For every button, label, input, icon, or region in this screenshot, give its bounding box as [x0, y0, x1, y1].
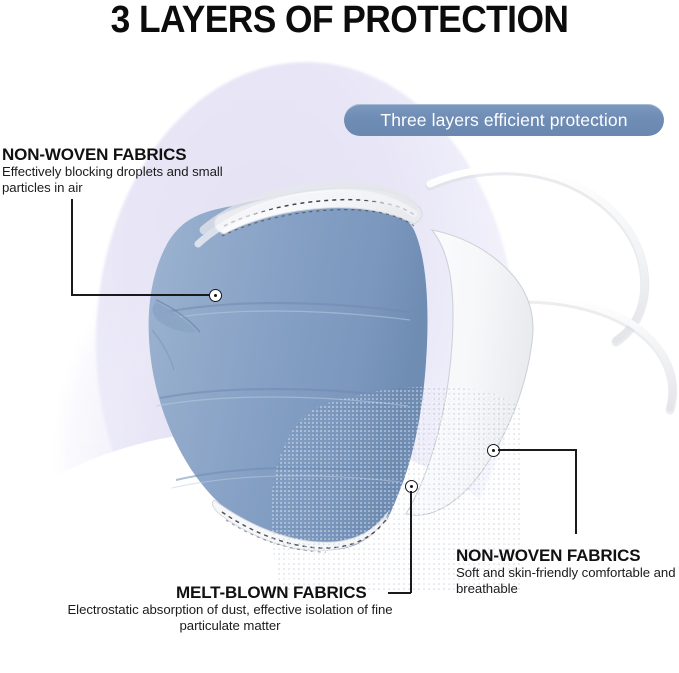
- leader-line-inner-horizontal: [498, 449, 576, 451]
- leader-line-outer-vertical: [71, 199, 73, 296]
- callout-meltblown-layer: MELT-BLOWN FABRICS Electrostatic absorpt…: [60, 583, 400, 633]
- leader-line-outer-horizontal: [71, 294, 216, 296]
- mask-layer-outer-nonwoven: [149, 196, 428, 551]
- callout-outer-heading: NON-WOVEN FABRICS: [2, 145, 242, 164]
- leader-line-inner-vertical: [575, 449, 577, 534]
- page-title: 3 LAYERS OF PROTECTION: [24, 0, 655, 41]
- callout-outer-description: Effectively blocking droplets and small …: [2, 164, 242, 195]
- callout-meltblown-heading: MELT-BLOWN FABRICS: [60, 583, 400, 602]
- callout-inner-heading: NON-WOVEN FABRICS: [456, 546, 679, 565]
- callout-outer-layer: NON-WOVEN FABRICS Effectively blocking d…: [2, 145, 242, 195]
- marker-dot-inner-layer: [487, 444, 500, 457]
- callout-meltblown-description: Electrostatic absorption of dust, effect…: [60, 602, 400, 633]
- infographic-canvas: 3 LAYERS OF PROTECTION Three layers effi…: [0, 0, 679, 673]
- badge-three-layers: Three layers efficient protection: [344, 104, 664, 136]
- badge-label: Three layers efficient protection: [380, 111, 627, 129]
- callout-inner-layer: NON-WOVEN FABRICS Soft and skin-friendly…: [456, 546, 679, 596]
- leader-line-meltblown-vertical: [410, 491, 412, 593]
- callout-inner-description: Soft and skin-friendly comfortable and b…: [456, 565, 679, 596]
- marker-dot-outer-layer: [209, 289, 222, 302]
- marker-dot-meltblown-layer: [405, 480, 418, 493]
